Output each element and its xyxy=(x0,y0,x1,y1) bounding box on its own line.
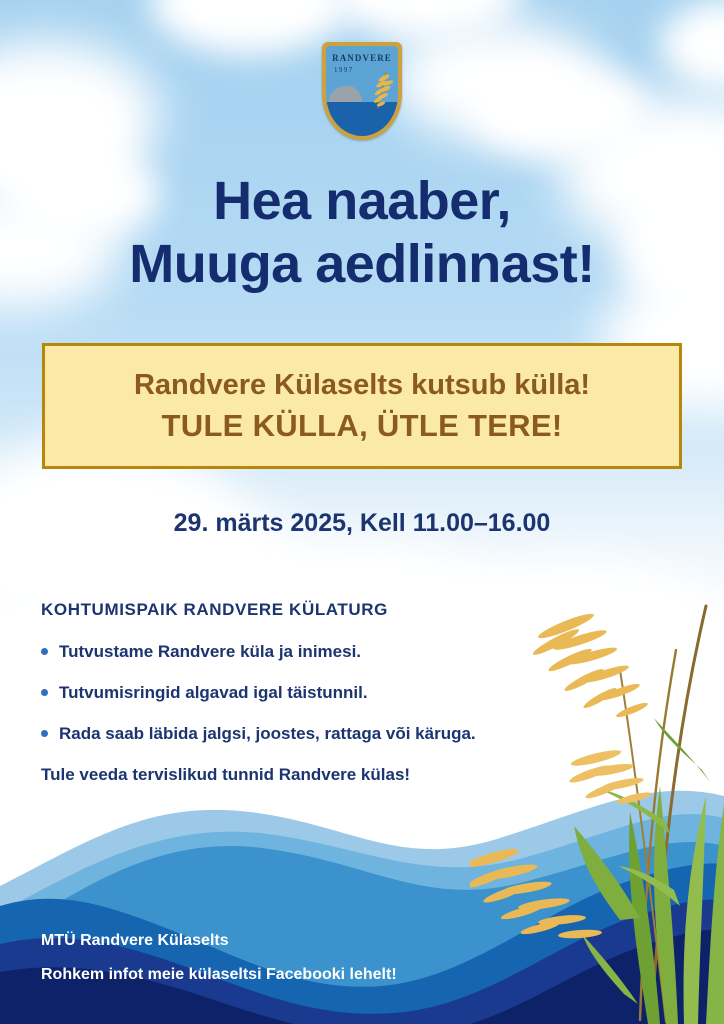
headline-line-2: Muuga aedlinnast! xyxy=(0,233,724,296)
shield-field: RANDVERE 1997 xyxy=(326,46,398,136)
organization-name: MTÜ Randvere Külaselts xyxy=(41,932,397,950)
meeting-place-heading: KOHTUMISPAIK RANDVERE KÜLATURG xyxy=(41,600,541,620)
bullet-icon xyxy=(41,730,48,737)
callout-line-1: Randvere Külaselts kutsub külla! xyxy=(134,369,590,402)
list-item: Tutvustame Randvere küla ja inimesi. xyxy=(41,642,541,662)
reed-plant-illustration xyxy=(470,590,724,1024)
footer: MTÜ Randvere Külaselts Rohkem infot meie… xyxy=(41,932,397,984)
reed-plume-middle xyxy=(568,747,652,806)
list-item: Rada saab läbida jalgsi, joostes, rattag… xyxy=(41,724,541,744)
headline-line-1: Hea naaber, xyxy=(0,170,724,233)
event-details: KOHTUMISPAIK RANDVERE KÜLATURG Tutvustam… xyxy=(41,600,541,785)
poster: RANDVERE 1997 Hea naaber, Muuga aedlinna… xyxy=(0,0,724,1024)
cloud xyxy=(150,0,350,55)
closing-invitation-text: Tule veeda tervislikud tunnid Randvere k… xyxy=(41,765,541,785)
bullet-icon xyxy=(41,689,48,696)
bullet-icon xyxy=(41,648,48,655)
emblem-year-text: 1997 xyxy=(334,66,354,74)
reed-icon xyxy=(362,68,398,112)
emblem-name-text: RANDVERE xyxy=(326,53,398,63)
list-item-label: Tutvumisringid algavad igal täistunnil. xyxy=(59,683,368,703)
list-item-label: Tutvustame Randvere küla ja inimesi. xyxy=(59,642,361,662)
event-date-time: 29. märts 2025, Kell 11.00–16.00 xyxy=(0,509,724,538)
list-item: Tutvumisringid algavad igal täistunnil. xyxy=(41,683,541,703)
reed-plume-top xyxy=(531,610,649,719)
randvere-coat-of-arms-emblem: RANDVERE 1997 xyxy=(322,42,402,140)
invitation-callout-box: Randvere Külaselts kutsub külla! TULE KÜ… xyxy=(42,343,682,469)
callout-line-2: TULE KÜLLA, ÜTLE TERE! xyxy=(162,408,563,444)
page-title: Hea naaber, Muuga aedlinnast! xyxy=(0,170,724,295)
cloud xyxy=(660,0,724,90)
reed-plume-lower xyxy=(470,845,602,939)
list-item-label: Rada saab läbida jalgsi, joostes, rattag… xyxy=(59,724,476,744)
more-info-text: Rohkem infot meie külaseltsi Facebooki l… xyxy=(41,966,397,984)
